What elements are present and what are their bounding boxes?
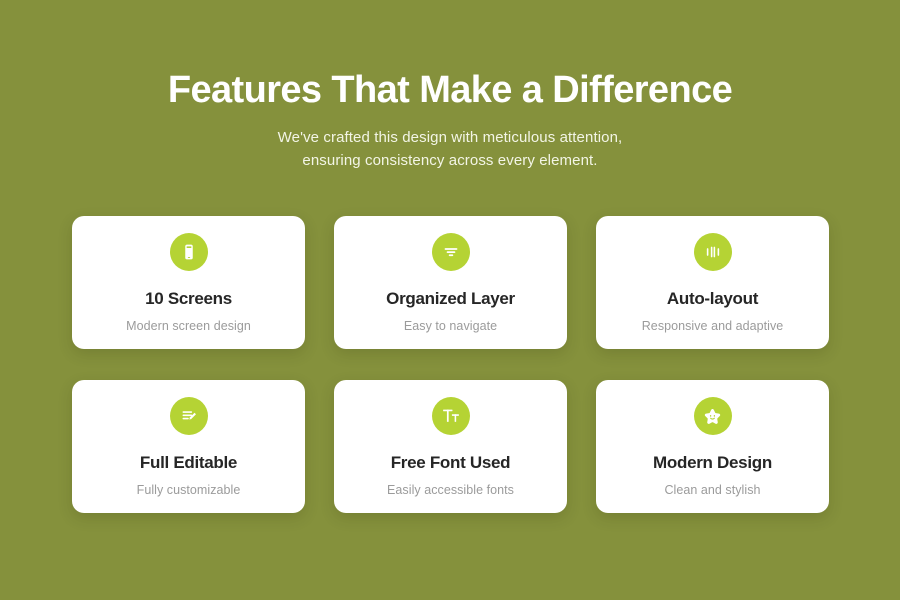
card-title: Organized Layer [386, 288, 515, 309]
filter-layers-icon [432, 233, 470, 271]
page-subtitle-line-2: ensuring consistency across every elemen… [190, 149, 710, 172]
card-description: Clean and stylish [664, 482, 760, 498]
card-title: Modern Design [653, 452, 772, 473]
page-subtitle: We've crafted this design with meticulou… [190, 126, 710, 172]
edit-pencil-icon [170, 397, 208, 435]
card-description: Responsive and adaptive [642, 318, 784, 334]
page-title: Features That Make a Difference [0, 68, 900, 112]
card-title: Full Editable [140, 452, 237, 473]
feature-card-free-font-used[interactable]: Free Font Used Easily accessible fonts [334, 380, 567, 513]
feature-card-auto-layout[interactable]: Auto-layout Responsive and adaptive [596, 216, 829, 349]
mobile-phone-icon [170, 233, 208, 271]
card-description: Easy to navigate [404, 318, 497, 334]
card-description: Easily accessible fonts [387, 482, 514, 498]
feature-card-organized-layer[interactable]: Organized Layer Easy to navigate [334, 216, 567, 349]
card-description: Modern screen design [126, 318, 251, 334]
typography-tt-icon [432, 397, 470, 435]
feature-cards-grid: 10 Screens Modern screen design Organize… [72, 216, 828, 513]
card-description: Fully customizable [137, 482, 241, 498]
section-header: Features That Make a Difference We've cr… [0, 0, 900, 172]
feature-card-modern-design[interactable]: Modern Design Clean and stylish [596, 380, 829, 513]
distribute-columns-icon [694, 233, 732, 271]
page-subtitle-line-1: We've crafted this design with meticulou… [190, 126, 710, 149]
feature-card-full-editable[interactable]: Full Editable Fully customizable [72, 380, 305, 513]
card-title: Free Font Used [391, 452, 511, 473]
feature-card-10-screens[interactable]: 10 Screens Modern screen design [72, 216, 305, 349]
card-title: 10 Screens [145, 288, 232, 309]
features-section: Features That Make a Difference We've cr… [0, 0, 900, 600]
star-icon [694, 397, 732, 435]
card-title: Auto-layout [667, 288, 758, 309]
